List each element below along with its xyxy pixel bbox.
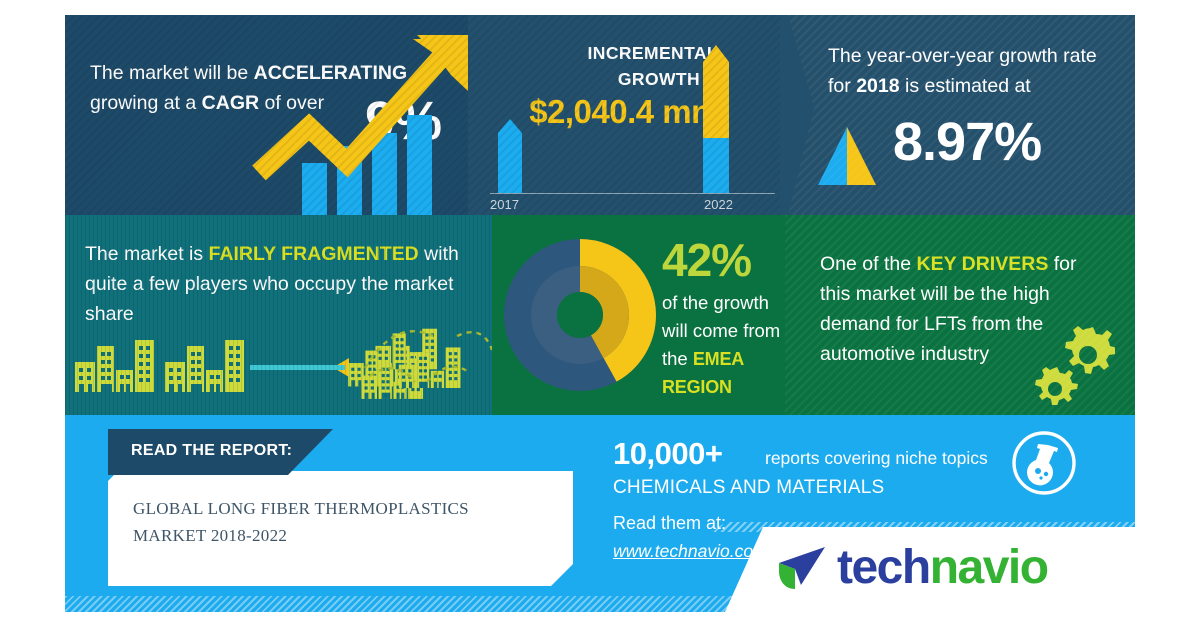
fragmented-highlight: FAIRLY FRAGMENTED — [209, 243, 419, 265]
rising-arrow-bar-chart — [65, 15, 468, 215]
axis-label-2022: 2022 — [704, 197, 733, 212]
reports-count-suffix: reports covering niche topics — [765, 448, 988, 469]
panel-chevron-icon — [780, 15, 814, 215]
emea-line-1: of the growth — [662, 292, 769, 313]
emea-line-2: will come from — [662, 320, 780, 341]
emea-line-3a: the — [662, 348, 693, 369]
banner-right-content: 10,000+ reports covering niche topics CH… — [605, 415, 1135, 612]
gears-icon — [1030, 325, 1115, 405]
page-fold-corner — [551, 564, 573, 586]
fragmented-market-cityscape — [65, 310, 492, 415]
panel-incremental-growth: INCREMENTAL GROWTH $2,040.4 mn 2017 2022 — [468, 15, 788, 215]
report-title: GLOBAL LONG FIBER THERMOPLASTICS MARKET … — [133, 495, 543, 549]
logo-text-tech: tech — [837, 541, 930, 594]
reports-count: 10,000+ — [613, 436, 722, 472]
emea-copy: of the growth will come from the EMEA RE… — [662, 289, 785, 401]
report-card[interactable]: GLOBAL LONG FIBER THERMOPLASTICS MARKET … — [108, 471, 573, 586]
read-the-report-label: READ THE REPORT: — [131, 442, 292, 460]
technavio-wordmark: technavio — [837, 540, 1048, 596]
panel-emea-share: 42% of the growth will come from the EME… — [492, 215, 785, 415]
panel-key-drivers: One of the KEY DRIVERS for this market w… — [785, 215, 1135, 415]
read-them-at-label: Read them at: — [613, 513, 726, 534]
report-category: CHEMICALS AND MATERIALS — [613, 477, 884, 499]
emea-percent: 42% — [662, 233, 782, 287]
yoy-text-1: The year-over-year growth rate — [828, 45, 1097, 67]
fragmented-text-1: The market is — [85, 243, 209, 265]
yoy-copy: The year-over-year growth rate for 2018 … — [828, 41, 1118, 101]
key-drivers-highlight: KEY DRIVERS — [916, 253, 1048, 275]
read-the-report-tab[interactable]: READ THE REPORT: — [108, 429, 333, 475]
yoy-growth-rate: 8.97% — [893, 111, 1041, 173]
yoy-text-bold: 2018 — [856, 75, 899, 97]
incremental-growth-axis — [490, 193, 775, 194]
axis-label-2017: 2017 — [490, 197, 519, 212]
yoy-text-2a: for — [828, 75, 856, 97]
logo-text-navio: navio — [930, 541, 1048, 594]
technavio-arrow-logo — [777, 545, 829, 591]
chemistry-flask-icon — [1010, 429, 1078, 497]
infographic-root: The market will be ACCELERATING growing … — [0, 0, 1200, 627]
donut-chart — [500, 235, 660, 395]
yoy-text-2b: is estimated at — [900, 75, 1031, 97]
panel-yoy-growth: The year-over-year growth rate for 2018 … — [788, 15, 1135, 215]
panel-bottom-banner: READ THE REPORT: GLOBAL LONG FIBER THERM… — [65, 415, 1135, 612]
key-drivers-text-1: One of the — [820, 253, 916, 275]
growth-triangle-icon — [816, 125, 878, 187]
website-url-link[interactable]: www.technavio.com — [613, 541, 768, 562]
panel-fragmented: The market is FAIRLY FRAGMENTED with qui… — [65, 215, 492, 415]
incremental-growth-bars — [468, 15, 788, 215]
banner-bottom-texture — [65, 596, 1135, 612]
panel-cagr: The market will be ACCELERATING growing … — [65, 15, 468, 215]
